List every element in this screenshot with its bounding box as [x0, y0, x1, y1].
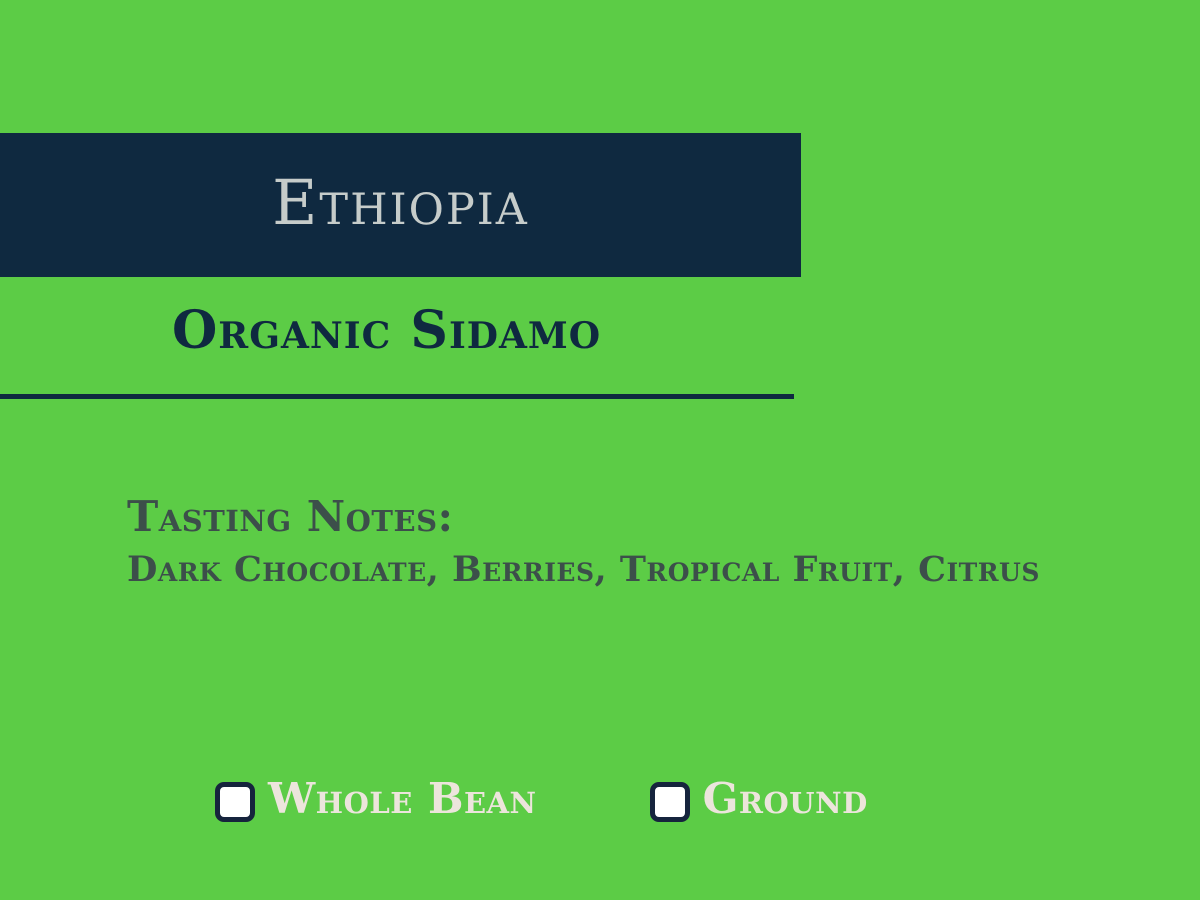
grind-option-whole-bean[interactable]: Whole Bean [215, 778, 537, 825]
grind-option-ground[interactable]: Ground [650, 778, 868, 825]
checkbox-ground[interactable] [650, 782, 690, 822]
grind-options-group: Whole Bean Ground [215, 778, 868, 825]
grind-option-label-whole-bean: Whole Bean [268, 778, 537, 825]
checkbox-whole-bean[interactable] [215, 782, 255, 822]
origin-title: Ethiopia [272, 172, 529, 238]
tasting-notes-values: Dark Chocolate, Berries, Tropical Fruit,… [127, 544, 1057, 596]
coffee-bag-label: Ethiopia Organic Sidamo Tasting Notes: D… [0, 0, 1200, 900]
varietal-subtitle: Organic Sidamo [172, 305, 601, 357]
origin-header-band: Ethiopia [0, 133, 801, 277]
tasting-notes-heading: Tasting Notes: [127, 489, 1057, 544]
tasting-notes-section: Tasting Notes: Dark Chocolate, Berries, … [127, 489, 1057, 596]
grind-option-label-ground: Ground [703, 778, 868, 825]
horizontal-divider [0, 394, 794, 399]
